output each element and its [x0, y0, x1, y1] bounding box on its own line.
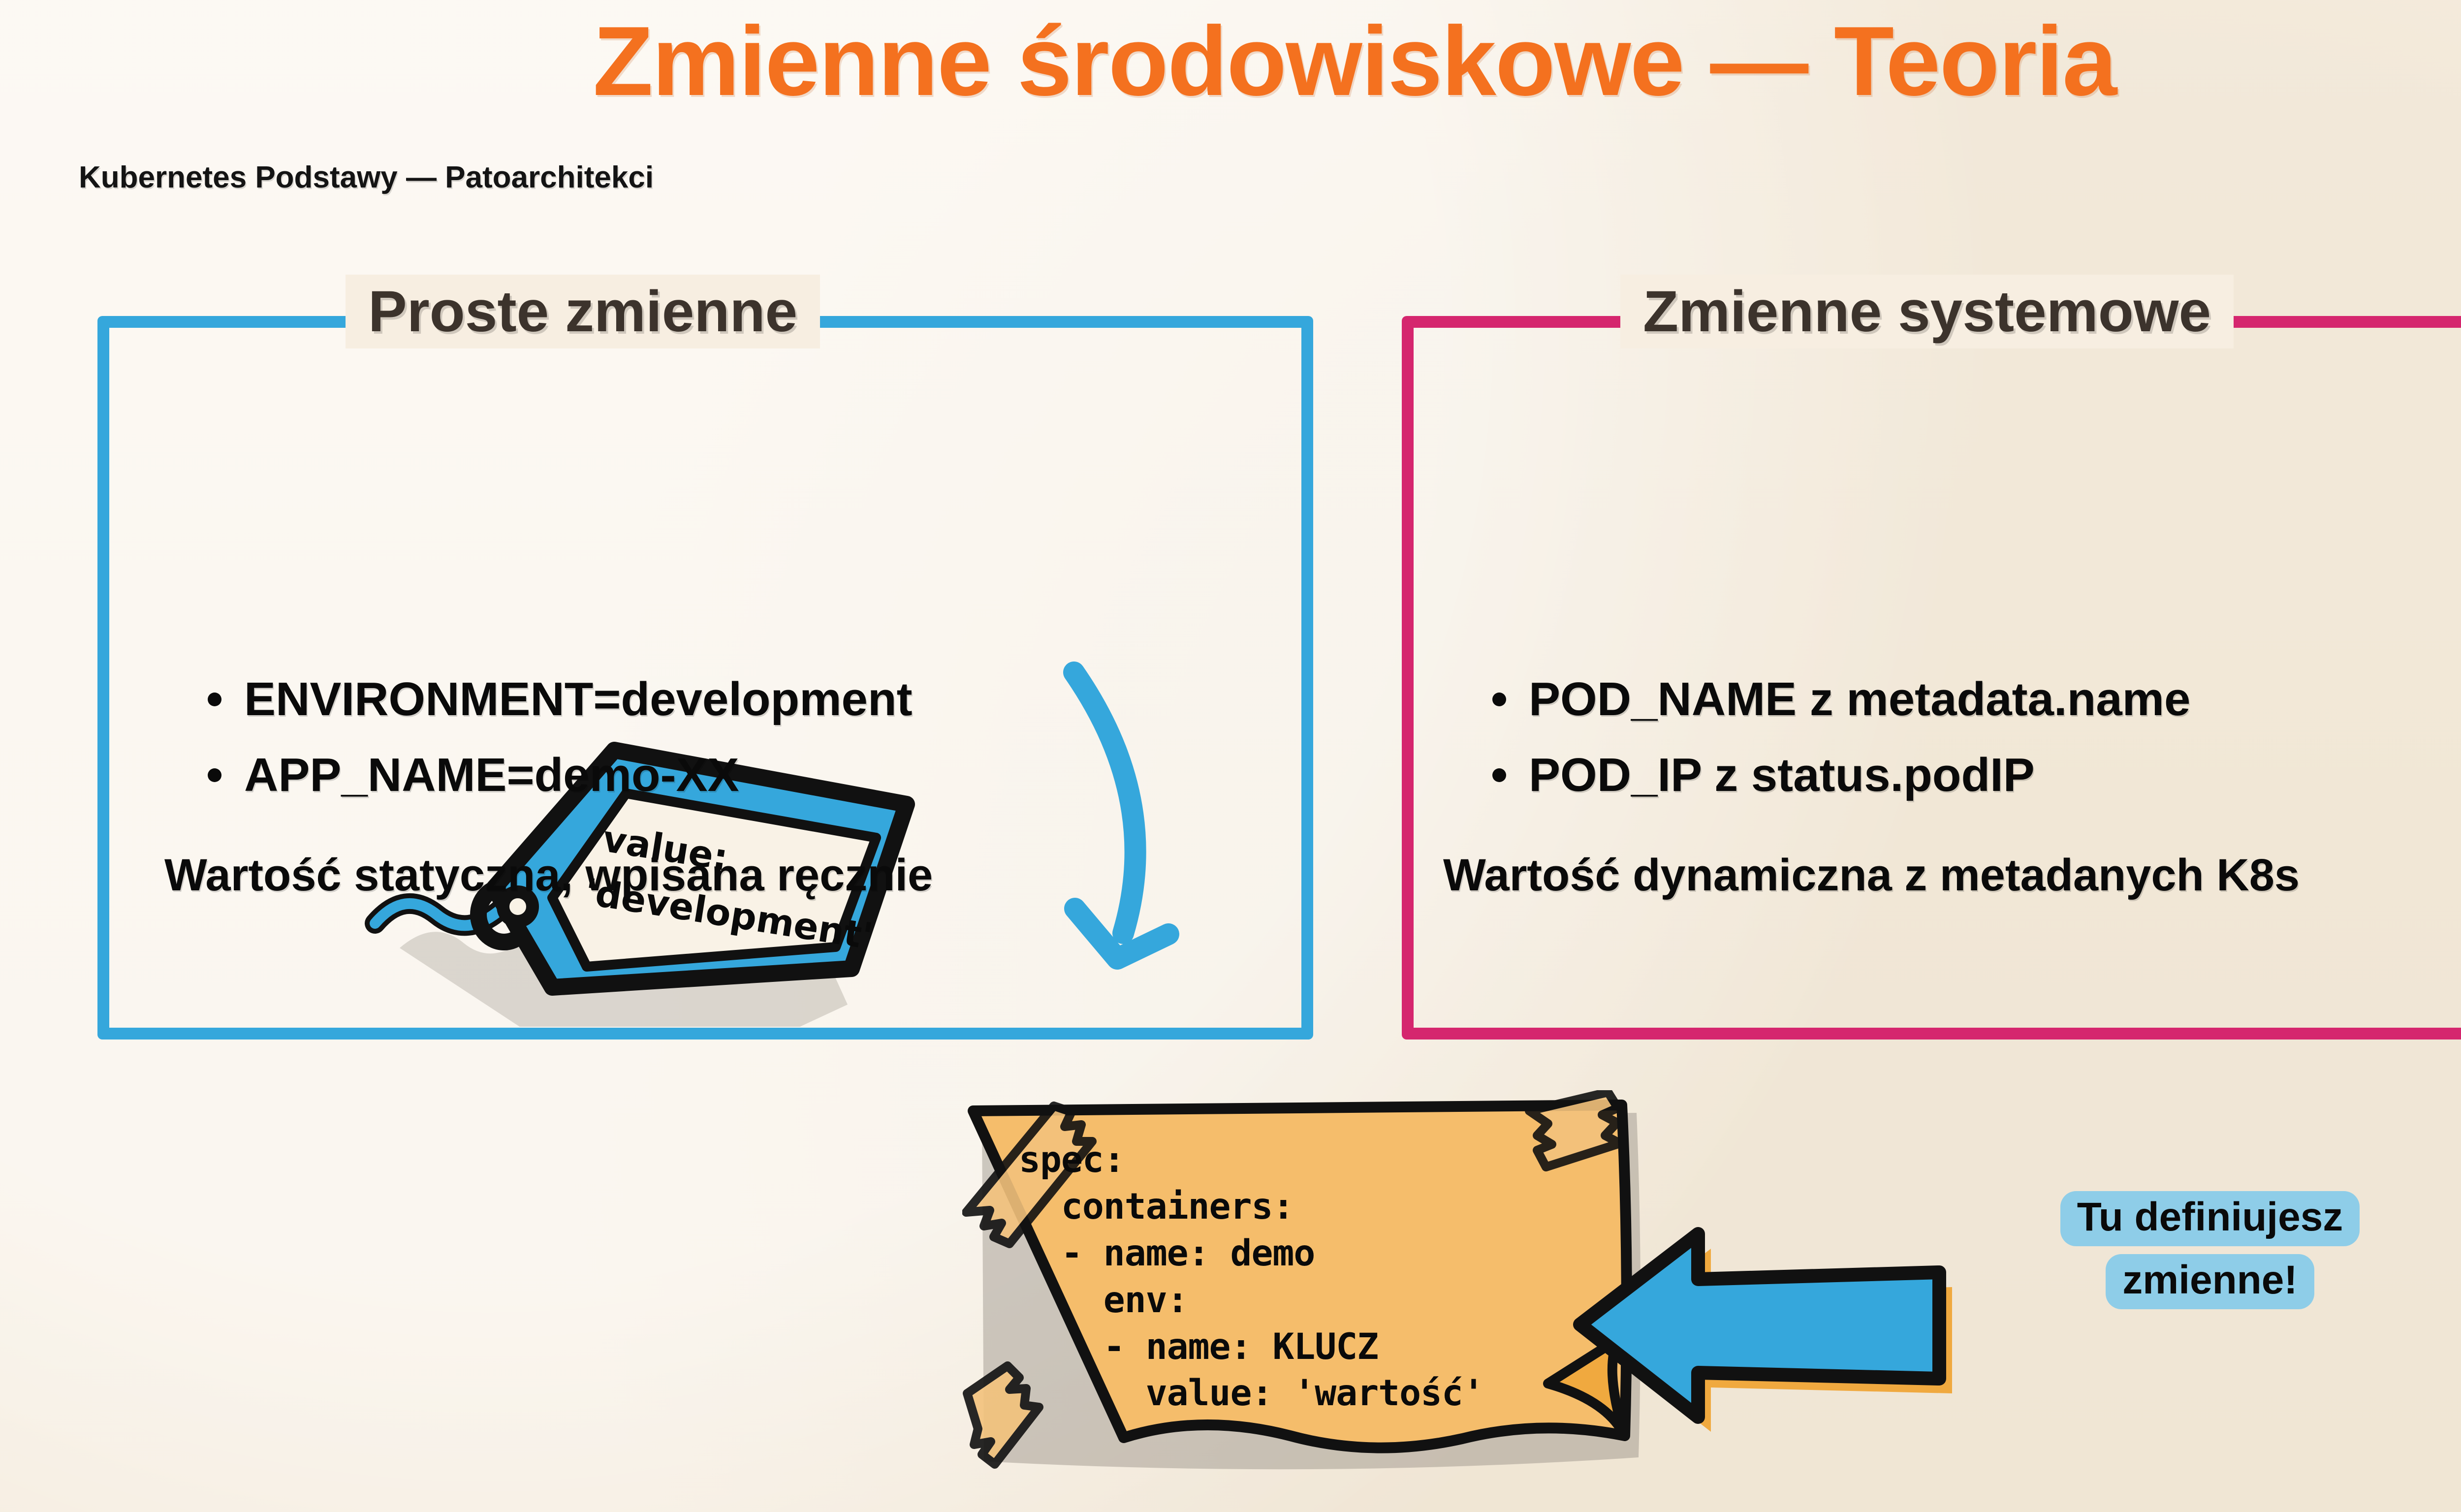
bullet-dot-icon: [208, 768, 221, 782]
list-item: ENVIRONMENT=development: [208, 672, 913, 726]
page-subtitle: Kubernetes Podstawy — Patoarchitekci: [79, 160, 654, 195]
list-item: POD_NAME z metadata.name: [1492, 672, 2190, 726]
pointer-arrow-left: [1550, 1198, 1954, 1435]
callout-define-variables: Tu definiujesz zmienne!: [1964, 1191, 2456, 1317]
bullet-text: POD_NAME z metadata.name: [1529, 672, 2190, 726]
bullet-list-simple: ENVIRONMENT=development APP_NAME=demo-XX: [208, 672, 913, 824]
panel-system-title: Zmienne systemowe: [1620, 275, 2234, 348]
callout-line-1: Tu definiujesz: [2060, 1191, 2360, 1246]
bullet-text: APP_NAME=demo-XX: [244, 748, 739, 802]
curved-arrow-down-blue: [1040, 653, 1197, 997]
bullet-text: POD_IP z status.podIP: [1529, 748, 2035, 802]
panel-system-footnote: Wartość dynamiczna z metadanych K8s: [1443, 850, 2300, 901]
panel-simple-footnote: Wartość statyczna, wpisana ręcznie: [164, 850, 933, 901]
panel-simple-variables: Proste zmienne value: 'development' ENVI…: [97, 316, 1313, 1039]
bullet-dot-icon: [208, 693, 221, 706]
bullet-dot-icon: [1492, 693, 1506, 706]
list-item: POD_IP z status.podIP: [1492, 748, 2190, 802]
callout-line-2: zmienne!: [2106, 1254, 2314, 1309]
yaml-code-block: spec: containers: - name: demo env: - na…: [1019, 1137, 1484, 1417]
header: Zmienne środowiskowe — Teoria Kubernetes…: [0, 0, 2461, 231]
callout-row-2: zmienne!: [1964, 1254, 2456, 1317]
callout-row-1: Tu definiujesz: [1964, 1191, 2456, 1254]
bullet-text: ENVIRONMENT=development: [244, 672, 913, 726]
bullet-list-system: POD_NAME z metadata.name POD_IP z status…: [1492, 672, 2190, 824]
bullet-dot-icon: [1492, 768, 1506, 782]
panel-simple-title: Proste zmienne: [346, 275, 820, 348]
page-title: Zmienne środowiskowe — Teoria: [0, 5, 2461, 118]
list-item: APP_NAME=demo-XX: [208, 748, 913, 802]
panel-system-variables: Zmienne systemowe: [1402, 316, 2461, 1039]
